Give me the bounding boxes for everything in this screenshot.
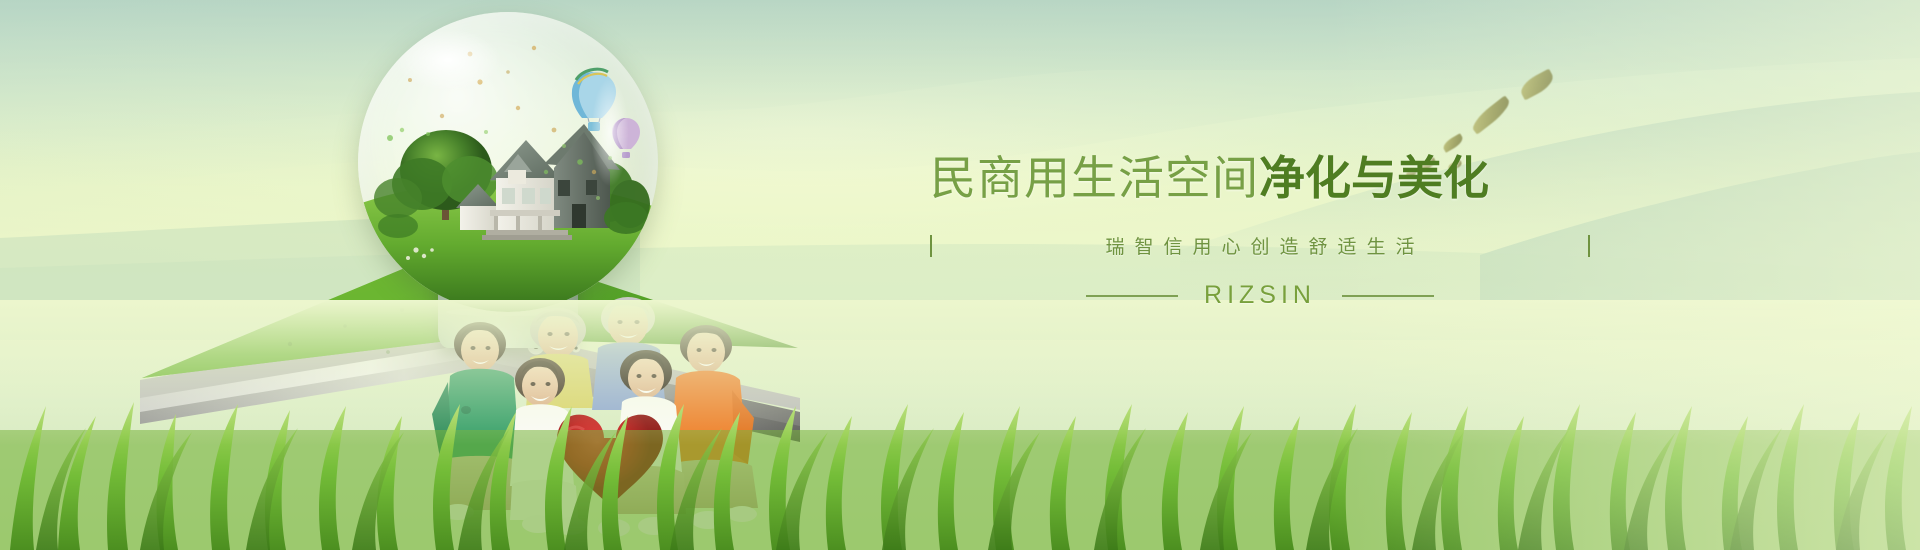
headline: 民商用生活空间净化与美化 (930, 150, 1590, 206)
subtitle-text: 瑞智信用心创造舒适生活 (946, 232, 1574, 259)
brand-line: RIZSIN (930, 281, 1590, 310)
subtitle-bar-left (930, 235, 932, 257)
foreground-grass (0, 310, 1920, 550)
subtitle: 瑞智信用心创造舒适生活 (930, 232, 1590, 259)
subtitle-bar-right (1588, 235, 1590, 257)
brand-name: RIZSIN (1204, 281, 1316, 310)
hero-banner: 民商用生活空间净化与美化 瑞智信用心创造舒适生活 RIZSIN (0, 0, 1920, 550)
brand-rule-right (1342, 295, 1434, 297)
brand-rule-left (1086, 295, 1178, 297)
headline-light-part: 民商用生活空间 (930, 152, 1259, 204)
headline-bold-part: 净化与美化 (1259, 152, 1489, 204)
banner-copy: 民商用生活空间净化与美化 瑞智信用心创造舒适生活 RIZSIN (930, 150, 1590, 310)
